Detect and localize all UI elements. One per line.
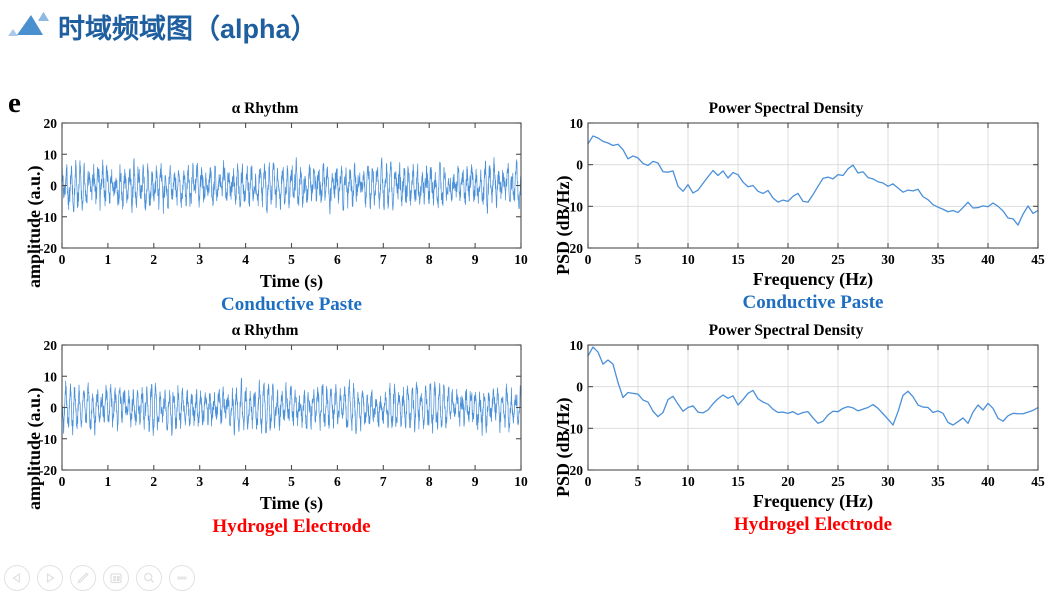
- more-options-icon: [175, 571, 189, 585]
- plot-svg: 051015202530354045-20-10010: [531, 320, 1052, 500]
- slide-layout-icon: [109, 571, 123, 585]
- svg-text:35: 35: [931, 252, 945, 267]
- svg-text:6: 6: [334, 252, 341, 267]
- svg-text:10: 10: [681, 252, 695, 267]
- chart-xlabel: Time (s): [62, 271, 521, 292]
- chart-psd-hydrogel: Power Spectral Density PSD (dB/Hz) 05101…: [531, 320, 1061, 520]
- chart-caption: Hydrogel Electrode: [62, 516, 521, 538]
- svg-text:8: 8: [426, 474, 433, 489]
- svg-text:25: 25: [831, 252, 845, 267]
- svg-text:40: 40: [981, 252, 995, 267]
- chart-caption: Conductive Paste: [62, 294, 521, 316]
- svg-text:-10: -10: [39, 432, 57, 447]
- svg-text:10: 10: [681, 474, 695, 489]
- svg-text:0: 0: [50, 401, 57, 416]
- svg-text:-20: -20: [565, 241, 583, 256]
- plot-area: 051015202530354045-20-10010: [531, 98, 1052, 278]
- svg-text:0: 0: [585, 474, 592, 489]
- svg-text:4: 4: [242, 252, 249, 267]
- svg-text:0: 0: [59, 252, 66, 267]
- figure-container: e α Rhythm amplitude (a.u.) 012345678910…: [0, 52, 1061, 547]
- plot-svg: 051015202530354045-20-10010: [531, 98, 1052, 278]
- page-title: 时域频域图（alpha）: [58, 7, 318, 46]
- plot-area: 012345678910-20-1001020: [0, 320, 535, 500]
- plot-area: 012345678910-20-1001020: [0, 98, 535, 278]
- svg-text:10: 10: [514, 474, 528, 489]
- chart-xlabel: Frequency (Hz): [588, 491, 1038, 512]
- svg-text:40: 40: [981, 474, 995, 489]
- svg-text:-20: -20: [39, 463, 57, 478]
- chart-caption: Conductive Paste: [588, 292, 1038, 314]
- svg-text:20: 20: [44, 338, 58, 353]
- slide-layout-button[interactable]: [103, 565, 129, 591]
- svg-text:7: 7: [380, 474, 387, 489]
- svg-text:15: 15: [731, 252, 745, 267]
- svg-text:5: 5: [635, 252, 642, 267]
- svg-text:7: 7: [380, 252, 387, 267]
- svg-text:10: 10: [570, 116, 584, 131]
- svg-text:1: 1: [105, 474, 112, 489]
- zoom-search-icon: [142, 571, 156, 585]
- chart-alpha-rhythm-hydrogel: α Rhythm amplitude (a.u.) 012345678910-2…: [0, 320, 530, 520]
- svg-text:5: 5: [288, 474, 295, 489]
- svg-text:10: 10: [514, 252, 528, 267]
- svg-text:0: 0: [50, 179, 57, 194]
- svg-text:0: 0: [585, 252, 592, 267]
- svg-text:1: 1: [105, 252, 112, 267]
- svg-text:9: 9: [472, 474, 479, 489]
- pen-annotate-icon: [76, 571, 90, 585]
- svg-text:35: 35: [931, 474, 945, 489]
- svg-text:10: 10: [570, 338, 584, 353]
- triangle-logo-icon: [5, 8, 53, 42]
- svg-text:25: 25: [831, 474, 845, 489]
- svg-text:30: 30: [881, 252, 895, 267]
- svg-text:5: 5: [635, 474, 642, 489]
- svg-text:4: 4: [242, 474, 249, 489]
- svg-text:-10: -10: [565, 421, 583, 436]
- chart-psd-conductive: Power Spectral Density PSD (dB/Hz) 05101…: [531, 98, 1061, 298]
- svg-text:0: 0: [576, 380, 583, 395]
- svg-text:15: 15: [731, 474, 745, 489]
- next-slide-button[interactable]: [37, 565, 63, 591]
- chart-alpha-rhythm-conductive: α Rhythm amplitude (a.u.) 012345678910-2…: [0, 98, 530, 298]
- svg-text:20: 20: [44, 116, 58, 131]
- svg-text:20: 20: [781, 252, 795, 267]
- svg-text:3: 3: [196, 474, 203, 489]
- svg-text:10: 10: [44, 369, 58, 384]
- svg-text:0: 0: [59, 474, 66, 489]
- plot-area: 051015202530354045-20-10010: [531, 320, 1052, 500]
- page-header: 时域频域图（alpha）: [0, 0, 1061, 52]
- svg-text:-20: -20: [39, 241, 57, 256]
- chart-xlabel: Frequency (Hz): [588, 269, 1038, 290]
- pen-annotate-button[interactable]: [70, 565, 96, 591]
- zoom-search-button[interactable]: [136, 565, 162, 591]
- svg-text:3: 3: [196, 252, 203, 267]
- plot-svg: 012345678910-20-1001020: [0, 320, 535, 500]
- svg-text:5: 5: [288, 252, 295, 267]
- svg-text:-20: -20: [565, 463, 583, 478]
- next-slide-icon: [44, 572, 56, 584]
- previous-slide-icon: [11, 572, 23, 584]
- chart-xlabel: Time (s): [62, 493, 521, 514]
- bottom-toolbar: [4, 565, 195, 591]
- chart-caption: Hydrogel Electrode: [588, 514, 1038, 536]
- svg-text:2: 2: [150, 252, 157, 267]
- svg-text:8: 8: [426, 252, 433, 267]
- svg-text:45: 45: [1031, 252, 1045, 267]
- svg-text:6: 6: [334, 474, 341, 489]
- svg-text:30: 30: [881, 474, 895, 489]
- svg-text:-10: -10: [39, 210, 57, 225]
- plot-svg: 012345678910-20-1001020: [0, 98, 535, 278]
- svg-text:20: 20: [781, 474, 795, 489]
- more-options-button[interactable]: [169, 565, 195, 591]
- svg-text:9: 9: [472, 252, 479, 267]
- svg-text:0: 0: [576, 158, 583, 173]
- svg-text:2: 2: [150, 474, 157, 489]
- svg-text:45: 45: [1031, 474, 1045, 489]
- svg-text:10: 10: [44, 147, 58, 162]
- previous-slide-button[interactable]: [4, 565, 30, 591]
- svg-text:-10: -10: [565, 199, 583, 214]
